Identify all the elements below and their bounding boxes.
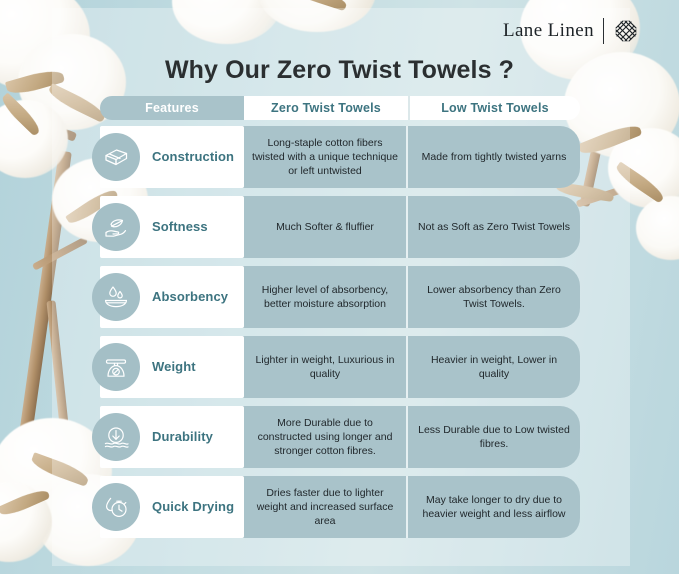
zero-twist-cell: Higher level of absorbency, better moist… [244,266,408,328]
low-twist-cell: Not as Soft as Zero Twist Towels [408,196,580,258]
page-title: Why Our Zero Twist Towels ? [0,56,679,85]
zero-twist-cell: Much Softer & fluffier [244,196,408,258]
table-row: Weight Lighter in weight, Luxurious in q… [100,336,580,398]
infographic-page: Lane Linen W [0,0,679,574]
zero-twist-cell: Dries faster due to lighter weight and i… [244,476,408,538]
feature-cell: Construction [100,126,244,188]
feature-label: Weight [152,360,196,375]
low-twist-cell: Lower absorbency than Zero Twist Towels. [408,266,580,328]
table-row: Softness Much Softer & fluffier Not as S… [100,196,580,258]
weighing-scale-icon [92,343,140,391]
brand-name: Lane Linen [503,20,594,42]
down-arrow-waves-icon [92,413,140,461]
header-low-twist: Low Twist Towels [408,96,580,120]
comparison-table: Features Zero Twist Towels Low Twist Tow… [100,96,580,546]
feature-label: Construction [152,150,234,165]
table-row: Quick Drying Dries faster due to lighter… [100,476,580,538]
low-twist-cell: Made from tightly twisted yarns [408,126,580,188]
table-row: Durability More Durable due to construct… [100,406,580,468]
low-twist-cell: May take longer to dry due to heavier we… [408,476,580,538]
table-header-row: Features Zero Twist Towels Low Twist Tow… [100,96,580,120]
zero-twist-cell: Long-staple cotton fibers twisted with a… [244,126,408,188]
low-twist-cell: Less Durable due to Low twisted fibres. [408,406,580,468]
feature-cell: Quick Drying [100,476,244,538]
zero-twist-cell: Lighter in weight, Luxurious in quality [244,336,408,398]
table-row: Absorbency Higher level of absorbency, b… [100,266,580,328]
feature-cell: Absorbency [100,266,244,328]
feature-cell: Weight [100,336,244,398]
droplet-stopwatch-icon [92,483,140,531]
table-row: Construction Long-staple cotton fibers t… [100,126,580,188]
folded-towel-icon [92,133,140,181]
brand-logo: Lane Linen [503,18,639,44]
low-twist-cell: Heavier in weight, Lower in quality [408,336,580,398]
header-zero-twist: Zero Twist Towels [244,96,408,120]
zero-twist-cell: More Durable due to constructed using lo… [244,406,408,468]
feature-label: Softness [152,220,208,235]
feature-label: Absorbency [152,290,228,305]
woven-lattice-icon [613,18,639,44]
feature-cell: Durability [100,406,244,468]
feature-cell: Softness [100,196,244,258]
feature-label: Quick Drying [152,500,234,515]
feature-label: Durability [152,430,213,445]
logo-divider [603,18,604,44]
hand-feather-icon [92,203,140,251]
header-features: Features [100,96,244,120]
water-droplets-absorb-icon [92,273,140,321]
